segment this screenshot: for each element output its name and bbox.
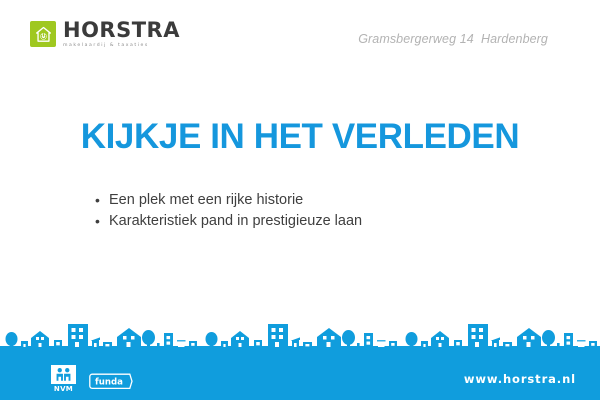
funda-logo[interactable]: funda — [89, 373, 133, 390]
funda-badge-icon: funda — [89, 373, 133, 390]
logo-wordmark: HORSTRA makelaardij & taxaties — [63, 20, 180, 48]
presentation-slide: HORSTRA makelaardij & taxaties Gramsberg… — [0, 0, 600, 400]
list-item: Karakteristiek pand in prestigieuze laan — [95, 211, 362, 232]
list-item: Een plek met een rijke historie — [95, 190, 362, 211]
nvm-logo[interactable]: NVM — [50, 365, 77, 394]
website-url[interactable]: www.horstra.nl — [464, 372, 576, 386]
horstra-logo[interactable]: HORSTRA makelaardij & taxaties — [30, 20, 180, 48]
partner-logos: NVM funda — [50, 365, 133, 394]
nvm-label: NVM — [54, 385, 73, 394]
city-skyline-silhouette — [0, 320, 600, 354]
logo-tagline: makelaardij & taxaties — [63, 44, 180, 49]
property-address: Gramsbergerweg 14 Hardenberg — [358, 32, 548, 46]
bullet-list: Een plek met een rijke historie Karakter… — [95, 190, 362, 232]
nvm-figures-icon — [51, 365, 76, 384]
funda-label: funda — [95, 378, 123, 388]
slide-title: KIJKJE IN HET VERLEDEN — [0, 117, 600, 157]
logo-name: HORSTRA — [63, 20, 180, 41]
slide-footer: NVM funda www.horstra.nl — [0, 322, 600, 400]
house-power-icon — [30, 21, 56, 47]
slide-header: HORSTRA makelaardij & taxaties Gramsberg… — [0, 0, 600, 70]
